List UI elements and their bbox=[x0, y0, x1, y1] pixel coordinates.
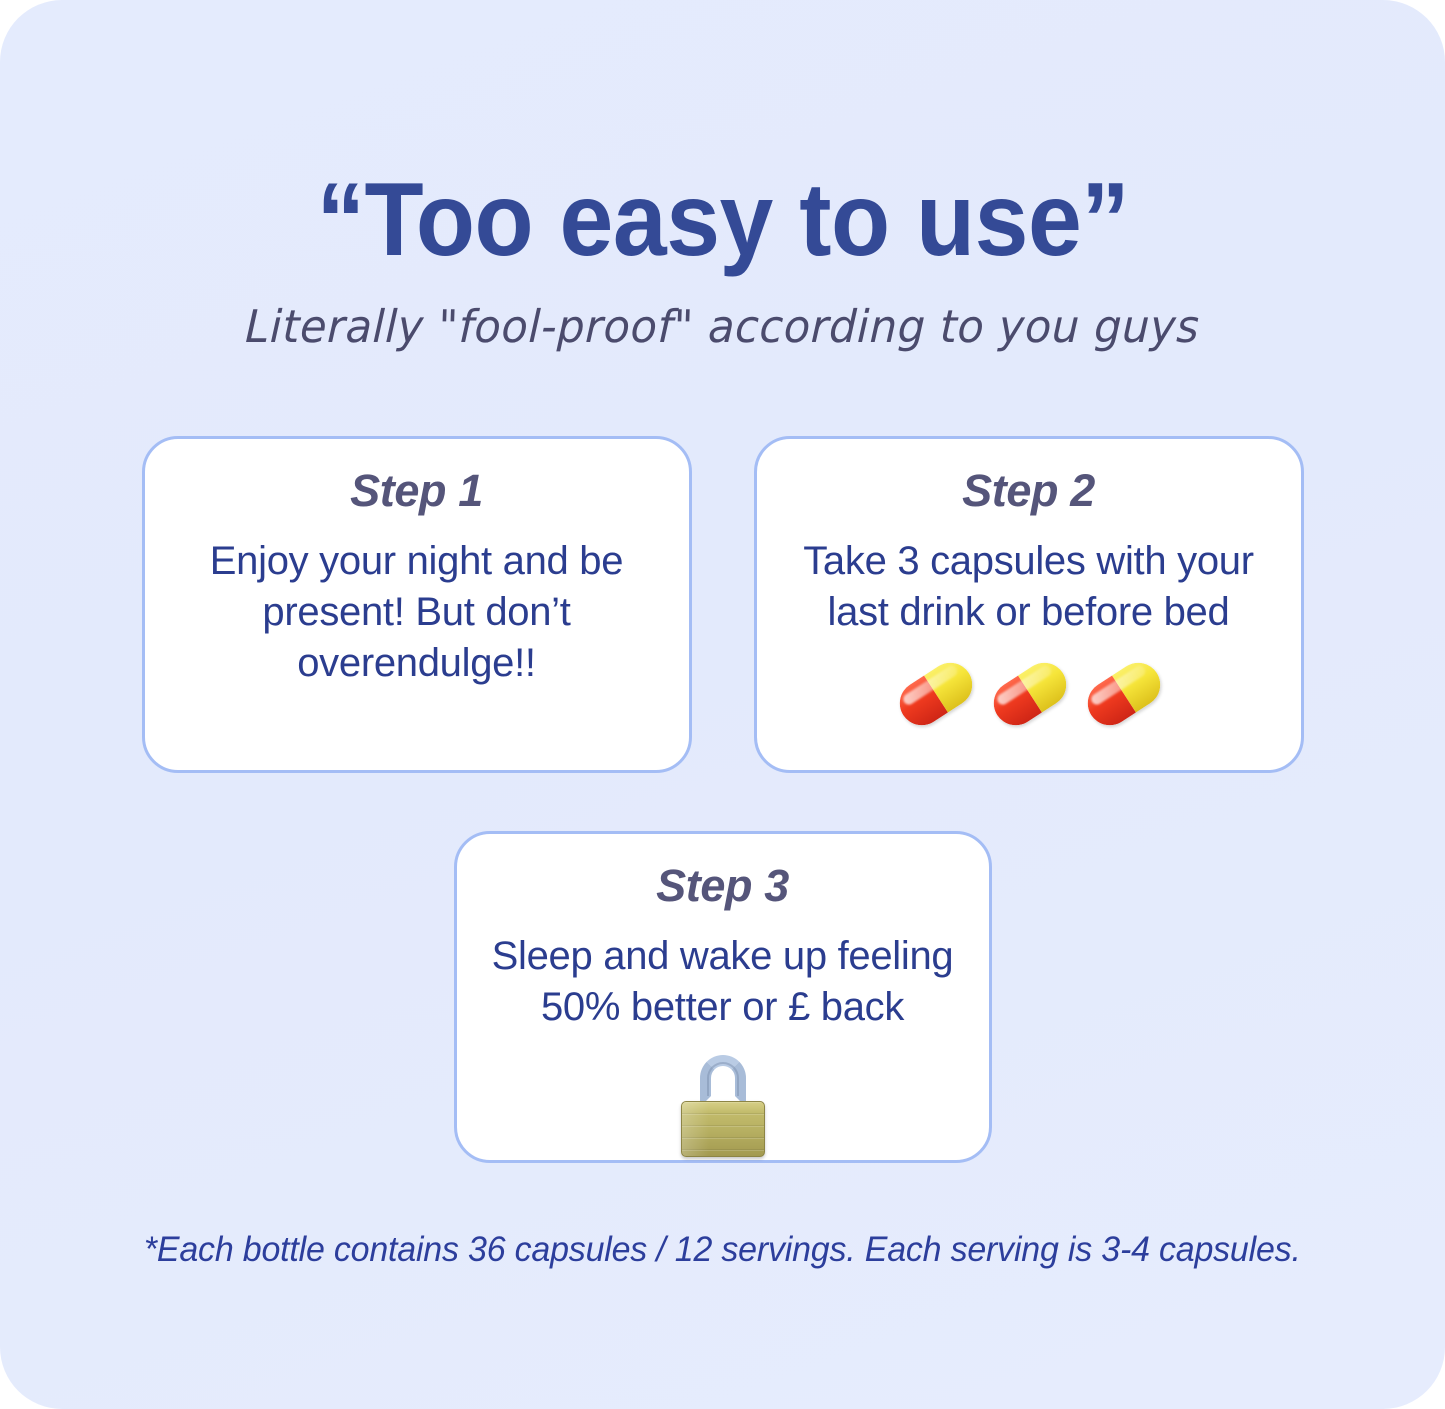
capsule-shape bbox=[985, 654, 1074, 733]
padlock-icon bbox=[677, 1053, 769, 1157]
capsule-icon bbox=[893, 652, 977, 736]
page-subtitle: Literally "fool-proof" according to you … bbox=[244, 272, 1201, 352]
step-1-label: Step 1 bbox=[350, 467, 483, 514]
page-title: “Too easy to use” bbox=[316, 0, 1129, 272]
capsule-shape bbox=[891, 654, 980, 733]
step-2-body: Take 3 capsules with your last drink or … bbox=[791, 514, 1267, 638]
padlock-body bbox=[681, 1101, 765, 1157]
step-1-body: Enjoy your night and be present! But don… bbox=[179, 514, 655, 690]
capsule-icon bbox=[987, 652, 1071, 736]
step-3-label: Step 3 bbox=[656, 862, 789, 909]
capsule-icon bbox=[1081, 652, 1165, 736]
promo-panel: “Too easy to use” Literally "fool-proof"… bbox=[0, 0, 1445, 1409]
capsule-shape bbox=[1079, 654, 1168, 733]
step-card-1: Step 1 Enjoy your night and be present! … bbox=[142, 436, 692, 773]
steps-row-top: Step 1 Enjoy your night and be present! … bbox=[0, 436, 1445, 773]
step-card-2: Step 2 Take 3 capsules with your last dr… bbox=[754, 436, 1304, 773]
padlock-shackle bbox=[700, 1055, 746, 1107]
steps-row-bottom: Step 3 Sleep and wake up feeling 50% bet… bbox=[0, 831, 1445, 1163]
footnote: *Each bottle contains 36 capsules / 12 s… bbox=[144, 1163, 1301, 1271]
step-card-3: Step 3 Sleep and wake up feeling 50% bet… bbox=[454, 831, 992, 1163]
step-3-body: Sleep and wake up feeling 50% better or … bbox=[491, 909, 955, 1033]
padlock-icon-group bbox=[677, 1047, 769, 1157]
capsule-icon-group bbox=[893, 652, 1165, 736]
step-2-label: Step 2 bbox=[962, 467, 1095, 514]
